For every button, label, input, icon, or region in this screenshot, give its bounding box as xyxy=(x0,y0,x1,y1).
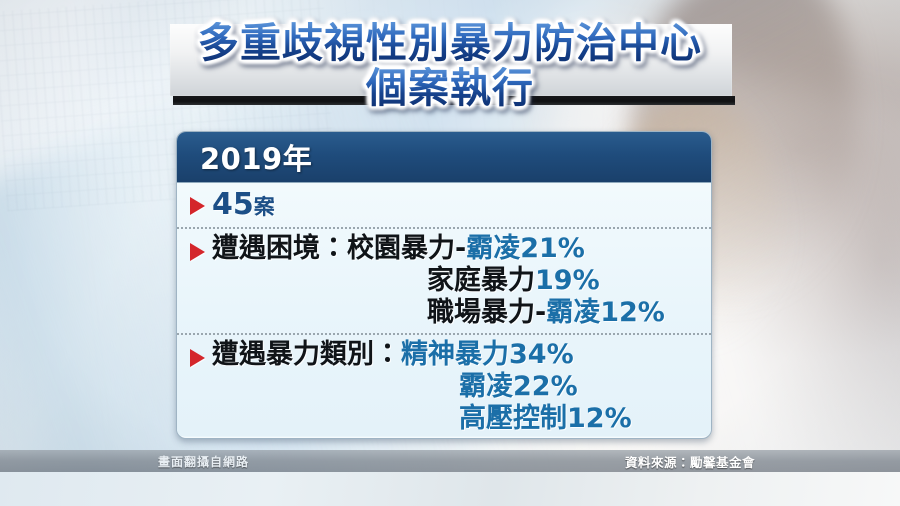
list-item-content: 45 案 xyxy=(212,188,701,222)
violence-type-line-2: 霸凌22% xyxy=(212,372,701,403)
list-item: 遭遇困境：校園暴力- 霸凌21% 家庭暴力 19% 職場暴力- 霸凌12% xyxy=(177,227,711,333)
panel-body: 45 案 遭遇困境：校園暴力- 霸凌21% 家庭暴力 19% xyxy=(177,183,711,436)
violence-type-value-1: 精神暴力34% xyxy=(401,340,574,371)
triangle-bullet-icon xyxy=(190,243,205,261)
panel-header: 2019年 xyxy=(177,132,711,183)
violence-type-line-1: 遭遇暴力類別： 精神暴力34% xyxy=(212,340,701,371)
difficulty-label-2: 家庭暴力 xyxy=(427,266,535,297)
lower-third-band xyxy=(0,472,900,506)
triangle-bullet-icon xyxy=(190,197,205,215)
list-item-content: 遭遇困境：校園暴力- 霸凌21% 家庭暴力 19% 職場暴力- 霸凌12% xyxy=(212,234,701,328)
total-cases-unit: 案 xyxy=(254,196,275,220)
title-plate-shadow xyxy=(173,96,735,105)
list-item: 45 案 xyxy=(177,183,711,227)
difficulty-value-1: 霸凌21% xyxy=(466,234,585,265)
violence-type-value-2: 霸凌22% xyxy=(459,372,578,403)
panel-year-label: 2019年 xyxy=(200,136,312,178)
difficulty-line-2: 家庭暴力 19% xyxy=(212,266,701,297)
list-item-content: 遭遇暴力類別： 精神暴力34% 霸凌22% 高壓控制12% xyxy=(212,340,701,434)
difficulty-value-2: 19% xyxy=(535,266,600,297)
title-plate xyxy=(170,24,732,96)
triangle-bullet-icon xyxy=(190,349,205,367)
stats-panel: 2019年 45 案 遭遇困境：校園暴力- 霸凌21 xyxy=(176,131,712,439)
credit-image-source: 畫面翻攝自網路 xyxy=(158,453,249,470)
credit-bar: 畫面翻攝自網路 資料來源：勵馨基金會 xyxy=(0,450,900,472)
difficulty-line-1: 遭遇困境：校園暴力- 霸凌21% xyxy=(212,234,701,265)
list-item: 遭遇暴力類別： 精神暴力34% 霸凌22% 高壓控制12% xyxy=(177,333,711,439)
broadcast-infographic-screen: 多重歧視性別暴力防治中心 個案執行 2019年 45 案 xyxy=(0,0,900,506)
violence-type-value-3: 高壓控制12% xyxy=(459,404,632,435)
difficulty-label: 遭遇困境：校園暴力- xyxy=(212,234,466,265)
violence-type-line-3: 高壓控制12% xyxy=(212,404,701,435)
difficulty-line-3: 職場暴力- 霸凌12% xyxy=(212,298,701,329)
violence-type-label: 遭遇暴力類別： xyxy=(212,340,401,371)
difficulty-label-3: 職場暴力- xyxy=(427,298,546,329)
total-cases-number: 45 xyxy=(212,188,254,222)
total-cases-line: 45 案 xyxy=(212,188,701,222)
credit-data-source: 資料來源：勵馨基金會 xyxy=(625,452,755,471)
difficulty-value-3: 霸凌12% xyxy=(546,298,665,329)
